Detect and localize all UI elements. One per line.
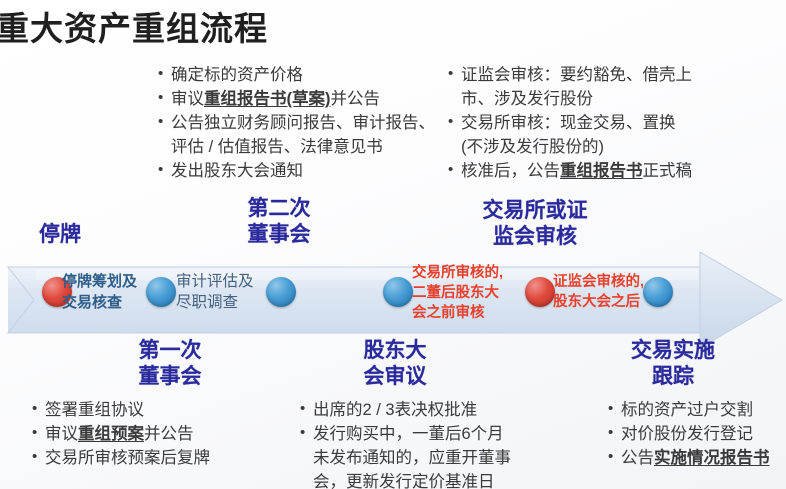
milestone-dot-csrc-review[interactable] [525, 277, 555, 307]
milestone-dot-audit-valuation[interactable] [146, 277, 176, 307]
list-item: 出席的2 / 3表决权批准 [300, 398, 511, 422]
list-bottom-middle: 出席的2 / 3表决权批准 发行购买中，一董后6个月 未发布通知的，应重开董事 … [300, 398, 511, 489]
page-title: 重大资产重组流程 [0, 2, 268, 50]
list-top-right: 证监会审核：要约豁免、借壳上 市、涉及发行股份 交易所审核：现金交易、置换 (不… [448, 63, 692, 183]
phase-label-board2: 第二次 董事会 [205, 196, 353, 248]
list-item: 确定标的资产价格 [158, 63, 435, 87]
step-label-suspend-trade-check: 停牌筹划及 交易核查 [62, 271, 137, 313]
list-top-left: 确定标的资产价格 审议重组报告书(草案)并公告 公告独立财务顾问报告、审计报告、… [158, 63, 435, 183]
list-item: 公告实施情况报告书 [608, 446, 770, 470]
step-label-csrc-review: 证监会审核的, 股东大会之后 [553, 272, 644, 312]
list-item: 对价股份发行登记 [608, 422, 770, 446]
step-label-exchange-review: 交易所审核的, 二董后股东大 会之前审核 [412, 263, 503, 323]
milestone-dot-post-approval[interactable] [643, 277, 673, 307]
list-item-continuation: 会，更新发行定价基准日 [300, 470, 511, 489]
list-item: 签署重组协议 [32, 398, 210, 422]
list-bottom-left: 签署重组协议 审议重组预案并公告 交易所审核预案后复牌 [32, 398, 210, 470]
emphasis-text: 实施情况报告书 [654, 449, 770, 467]
phase-label-review: 交易所或证 监会审核 [440, 198, 630, 250]
phase-label-board1: 第一次 董事会 [96, 338, 244, 390]
list-item: 核准后，公告重组报告书正式稿 [448, 159, 692, 183]
list-item: 交易所审核：现金交易、置换 [448, 111, 692, 135]
list-item: 审议重组报告书(草案)并公告 [158, 87, 435, 111]
milestone-dot-board2[interactable] [266, 277, 296, 307]
list-item: 审议重组预案并公告 [32, 422, 210, 446]
step-label-audit-valuation: 审计评估及 尽职调查 [176, 271, 254, 313]
list-item: 公告独立财务顾问报告、审计报告、 [158, 111, 435, 135]
phase-label-execution: 交易实施 跟踪 [588, 338, 758, 390]
list-item-continuation: 评估 / 估值报告、法律意见书 [158, 135, 435, 159]
phase-label-suspend: 停牌 [12, 222, 108, 248]
list-item: 标的资产过户交割 [608, 398, 770, 422]
list-item-continuation: 未发布通知的，应重开董事 [300, 446, 511, 470]
emphasis-text: 重组预案 [78, 425, 144, 443]
slide-canvas: 重大资产重组流程 确定标的资产价格 审议重组报告书(草案)并公告 公告独立财务顾… [0, 0, 786, 489]
emphasis-text: 重组报告书 [560, 162, 643, 180]
list-item: 证监会审核：要约豁免、借壳上 [448, 63, 692, 87]
emphasis-text: 重组报告书(草案) [204, 90, 331, 108]
list-item: 交易所审核预案后复牌 [32, 446, 210, 470]
list-item-continuation: 市、涉及发行股份 [448, 87, 692, 111]
list-item-continuation: (不涉及发行股份的) [448, 135, 692, 159]
milestone-dot-exchange-review[interactable] [383, 277, 413, 307]
list-item: 发行购买中，一董后6个月 [300, 422, 511, 446]
list-item: 发出股东大会通知 [158, 159, 435, 183]
phase-label-shmeeting: 股东大 会审议 [330, 338, 460, 390]
list-bottom-right: 标的资产过户交割 对价股份发行登记 公告实施情况报告书 [608, 398, 770, 470]
